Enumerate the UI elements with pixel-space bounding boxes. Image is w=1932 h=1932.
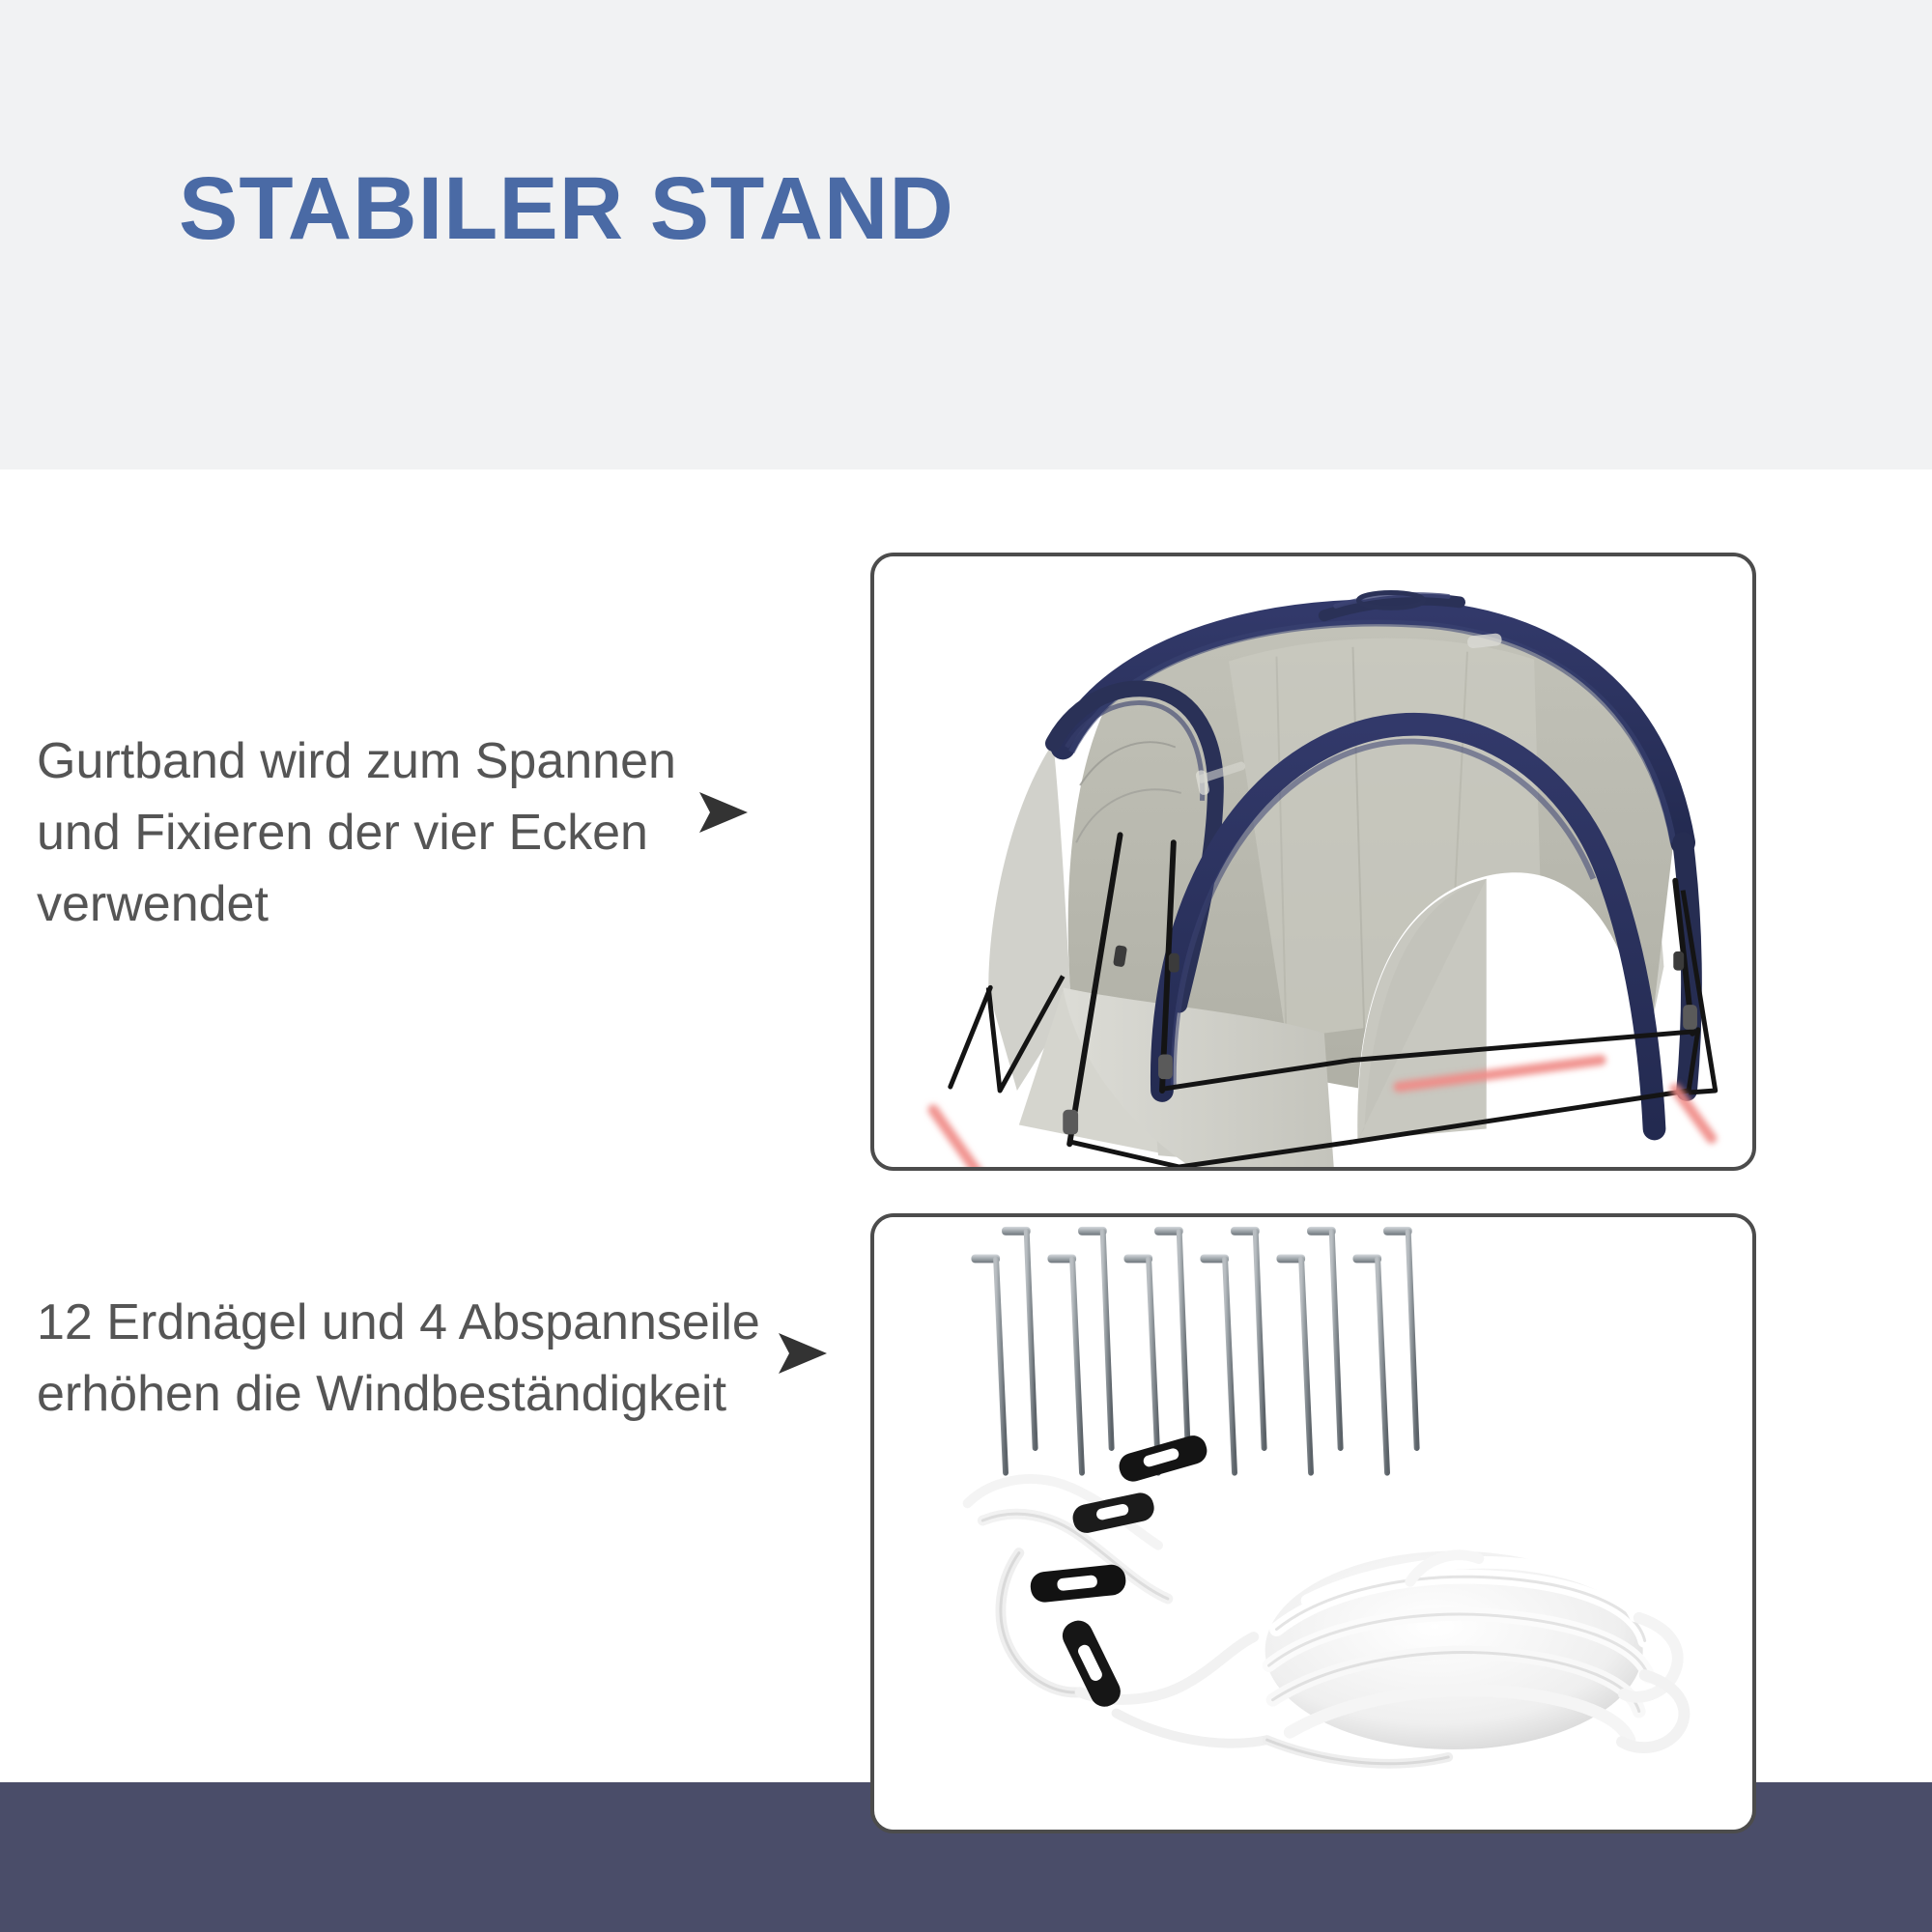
page-title: STABILER STAND — [179, 162, 954, 256]
tent-photo-card — [870, 553, 1756, 1171]
tent-illustration — [874, 556, 1752, 1167]
webbing-strap-caption: Gurtband wird zum Spannen und Fixieren d… — [37, 726, 703, 940]
arrow-right-icon — [694, 782, 753, 842]
pegs-and-ropes-illustration — [874, 1217, 1752, 1830]
pegs-and-ropes-caption: 12 Erdnägel und 4 Abspannseile erhöhen d… — [37, 1288, 800, 1431]
product-feature-slide: STABILER STAND Gurtband wird zum Spannen… — [0, 0, 1932, 1932]
arrow-right-icon — [773, 1323, 833, 1383]
accessories-photo-card — [870, 1213, 1756, 1833]
